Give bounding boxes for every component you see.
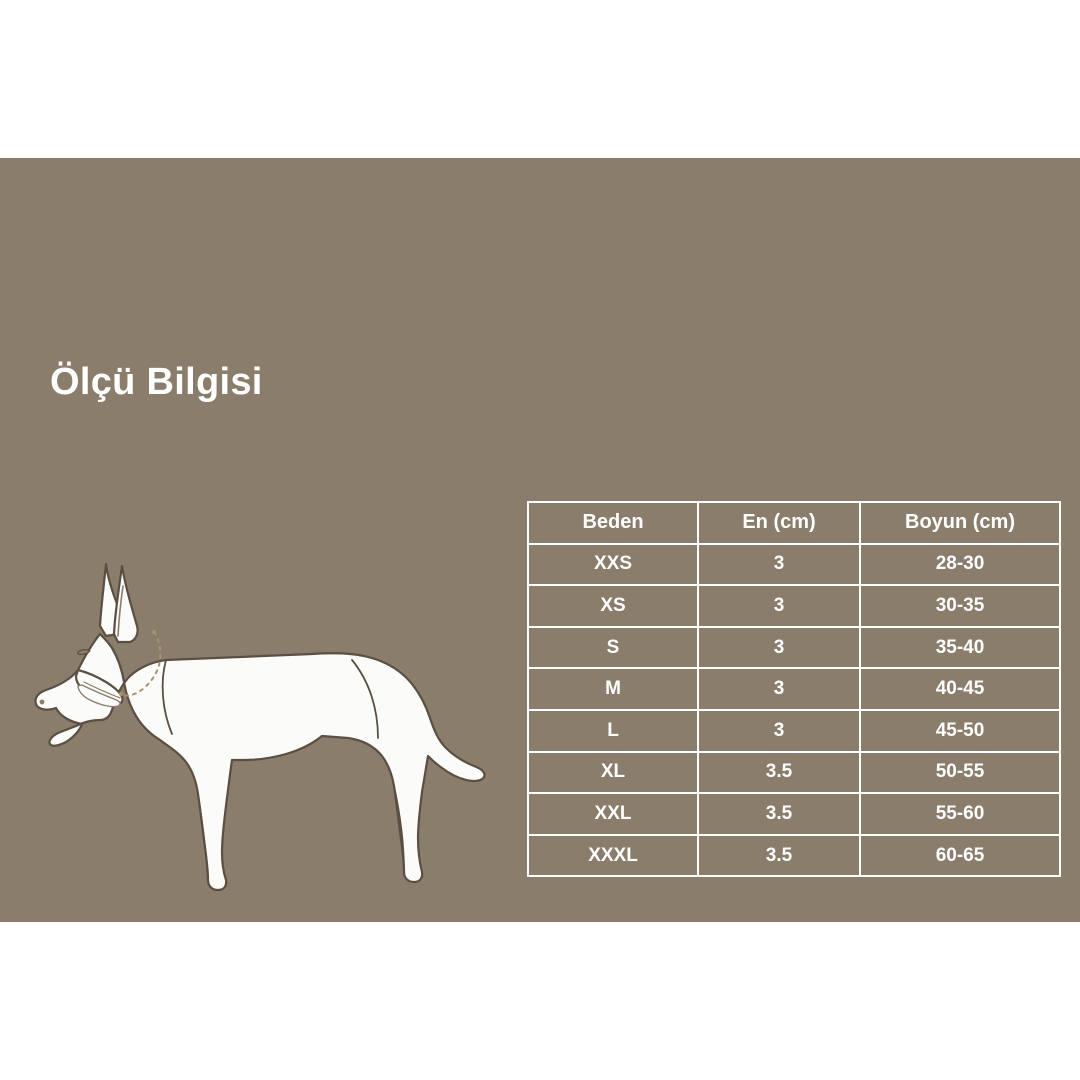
cell-beden: M	[528, 668, 698, 710]
size-table-body: XXS 3 28-30 XS 3 30-35 S 3 35-40 M 3	[528, 544, 1060, 877]
cell-beden: XXL	[528, 793, 698, 835]
cell-boyun: 60-65	[860, 835, 1060, 877]
table-row: S 3 35-40	[528, 627, 1060, 669]
neck-measure-start-marker	[152, 630, 156, 634]
table-row: XS 3 30-35	[528, 585, 1060, 627]
cell-boyun: 35-40	[860, 627, 1060, 669]
cell-en: 3.5	[698, 752, 860, 794]
cell-beden: L	[528, 710, 698, 752]
table-row: M 3 40-45	[528, 668, 1060, 710]
cell-en: 3	[698, 544, 860, 586]
size-table: Beden En (cm) Boyun (cm) XXS 3 28-30 XS …	[527, 501, 1061, 877]
cell-boyun: 30-35	[860, 585, 1060, 627]
column-header-beden: Beden	[528, 502, 698, 544]
size-table-head: Beden En (cm) Boyun (cm)	[528, 502, 1060, 544]
cell-beden: XS	[528, 585, 698, 627]
cell-beden: XXS	[528, 544, 698, 586]
cell-boyun: 28-30	[860, 544, 1060, 586]
cell-en: 3.5	[698, 793, 860, 835]
table-row: L 3 45-50	[528, 710, 1060, 752]
cell-en: 3	[698, 585, 860, 627]
column-header-en: En (cm)	[698, 502, 860, 544]
table-header-row: Beden En (cm) Boyun (cm)	[528, 502, 1060, 544]
neck-measure-end-marker	[119, 692, 123, 696]
cell-boyun: 40-45	[860, 668, 1060, 710]
cell-beden: XL	[528, 752, 698, 794]
table-row: XL 3.5 50-55	[528, 752, 1060, 794]
cell-en: 3	[698, 627, 860, 669]
cell-beden: XXXL	[528, 835, 698, 877]
cell-boyun: 50-55	[860, 752, 1060, 794]
dog-nose	[40, 700, 45, 705]
brown-content-panel: Ölçü Bilgisi	[0, 158, 1080, 922]
table-row: XXL 3.5 55-60	[528, 793, 1060, 835]
dog-illustration	[22, 530, 502, 900]
page-title: Ölçü Bilgisi	[50, 361, 263, 404]
dog-body-silhouette	[35, 634, 484, 890]
table-row: XXS 3 28-30	[528, 544, 1060, 586]
cell-boyun: 45-50	[860, 710, 1060, 752]
cell-en: 3	[698, 710, 860, 752]
cell-beden: S	[528, 627, 698, 669]
cell-boyun: 55-60	[860, 793, 1060, 835]
size-chart-page: Ölçü Bilgisi	[0, 0, 1080, 1080]
table-row: XXXL 3.5 60-65	[528, 835, 1060, 877]
cell-en: 3	[698, 668, 860, 710]
cell-en: 3.5	[698, 835, 860, 877]
dog-svg	[22, 530, 502, 900]
column-header-boyun: Boyun (cm)	[860, 502, 1060, 544]
